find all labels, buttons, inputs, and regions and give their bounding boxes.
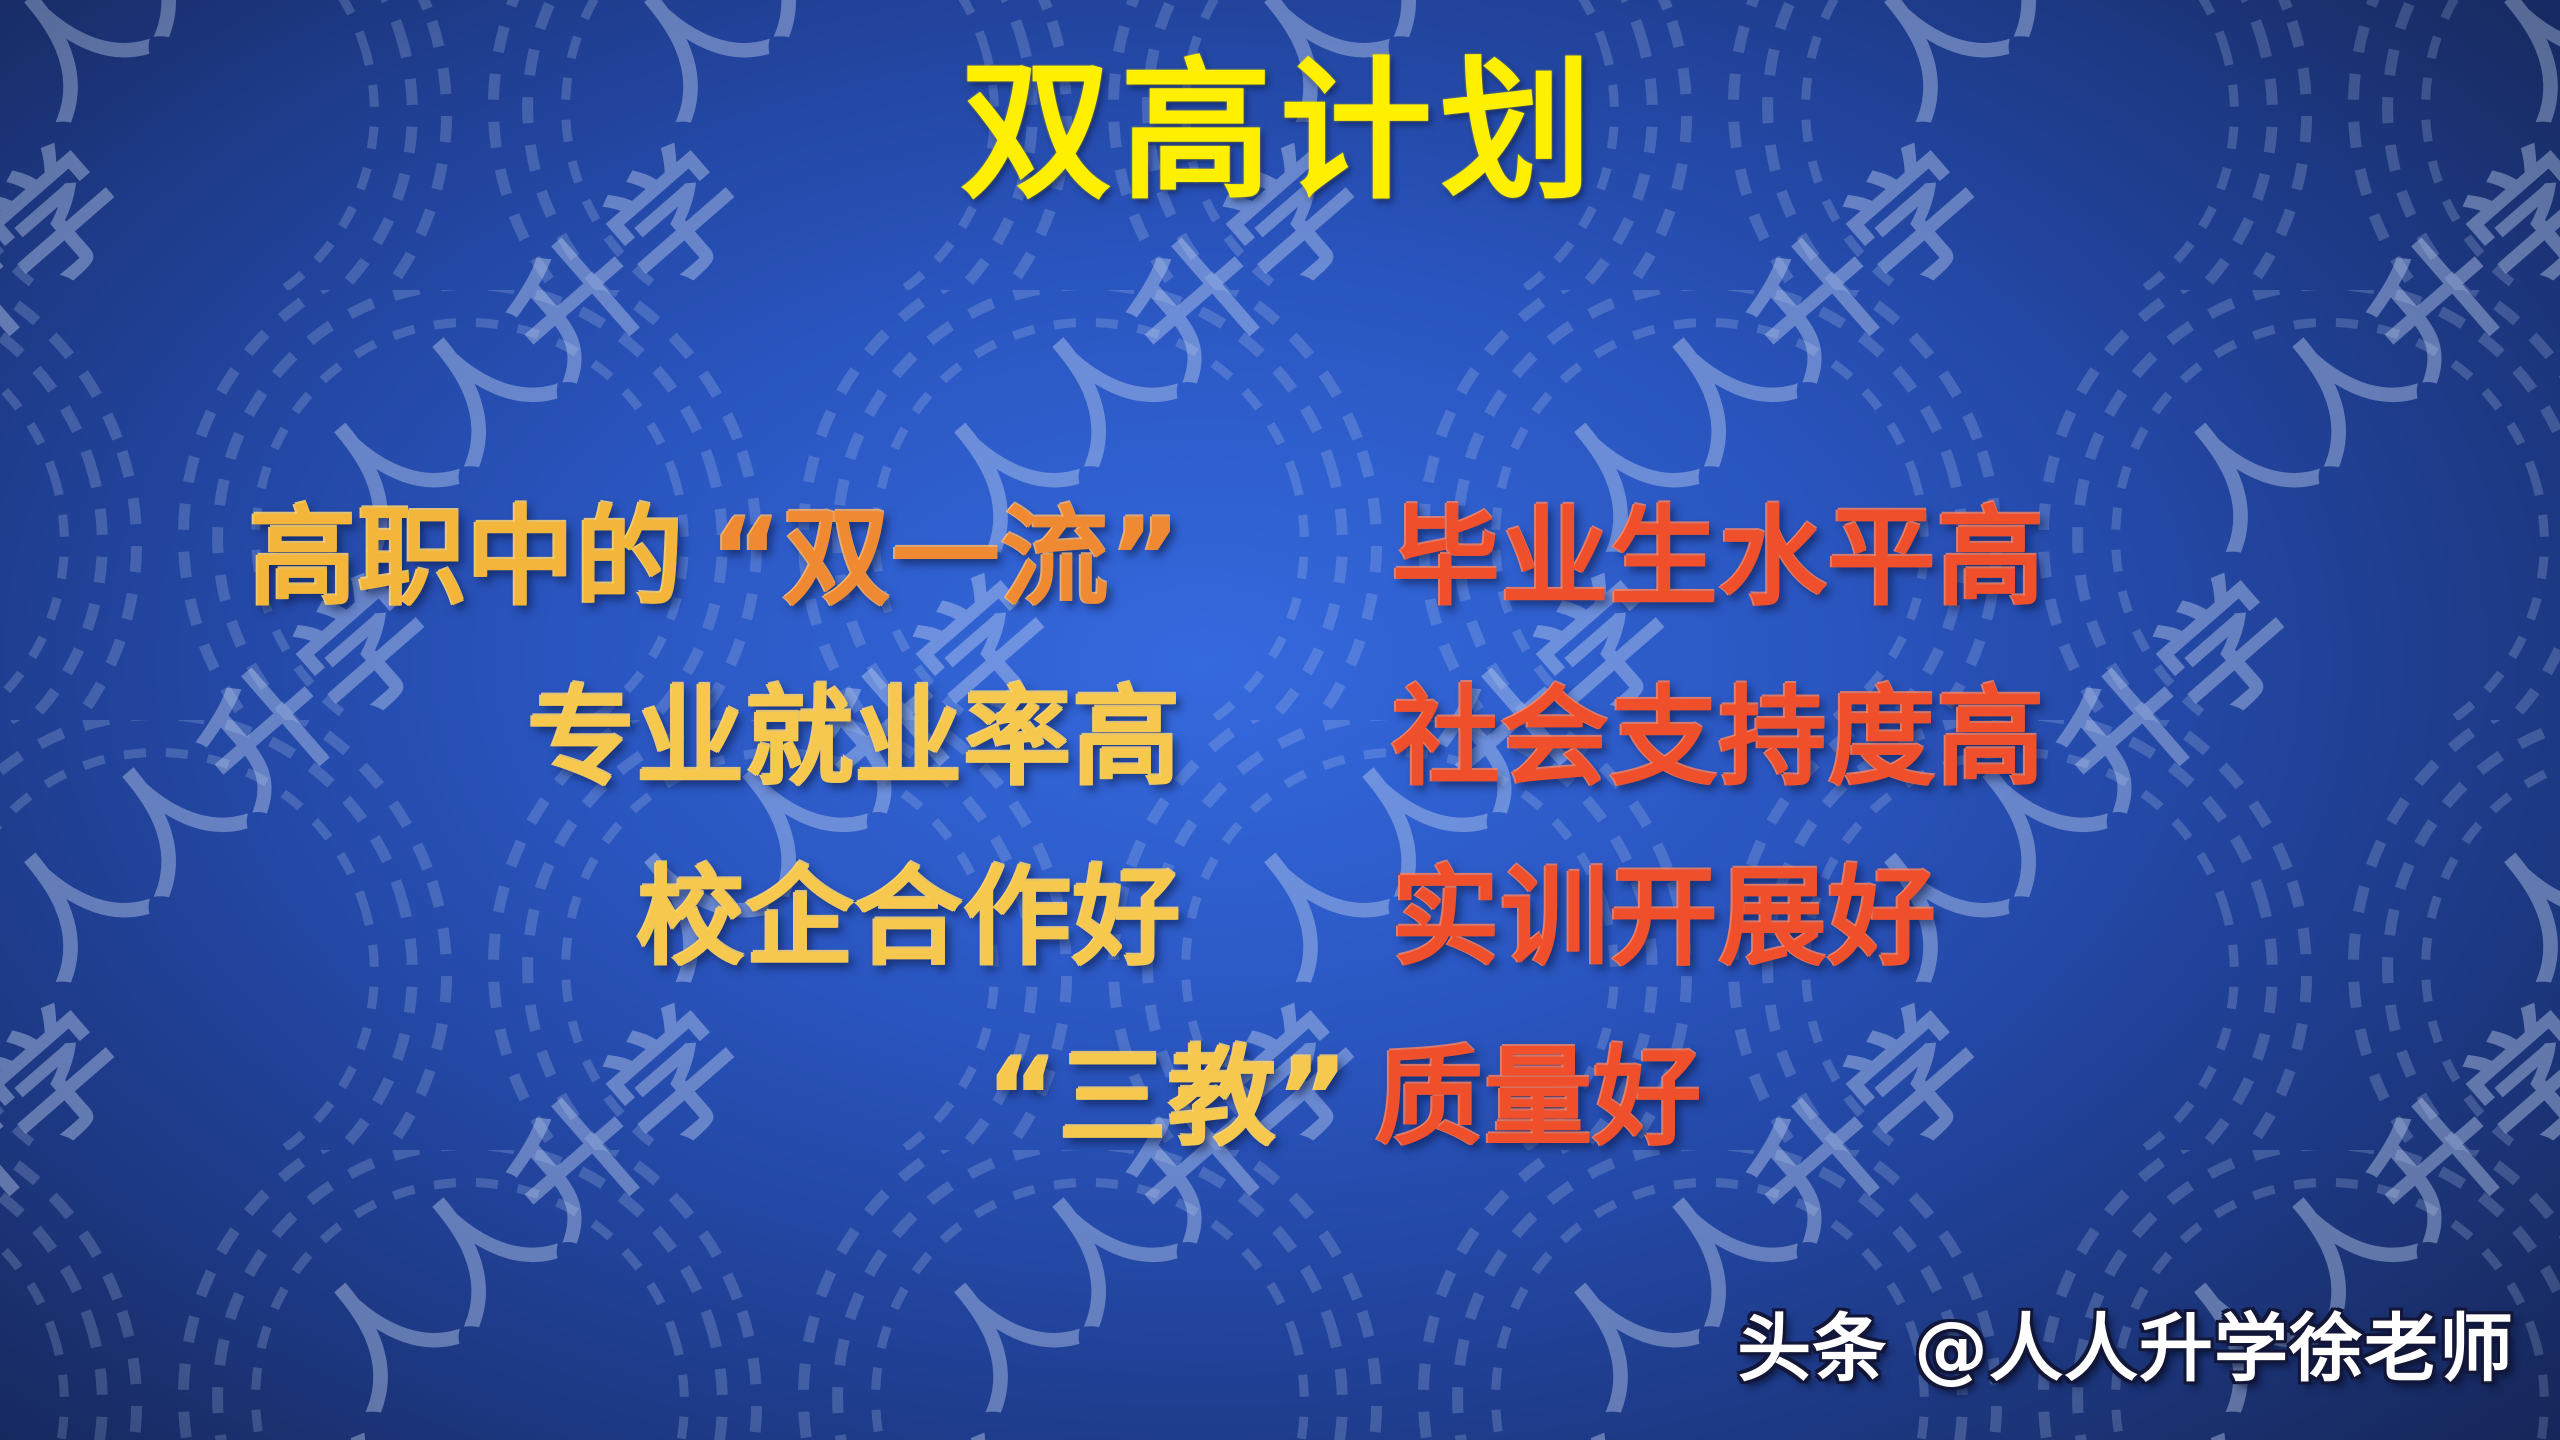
benefit-right-3: 实训开展好 <box>1280 865 2560 973</box>
author-signature: 头条 @人人升学徐老师 <box>1737 1289 2514 1396</box>
slide-title: 双高计划 <box>0 52 2560 212</box>
benefit-left-1-lead: 高职中的 <box>249 496 685 621</box>
benefit-left-3: 校企合作好 <box>0 865 1280 973</box>
benefit-right-3-text: 实训开展好 <box>1392 856 1937 981</box>
benefit-left-1: 高职中的“双一流” <box>0 505 1280 613</box>
benefit-right-1: 毕业生水平高 <box>1280 505 2560 613</box>
presentation-slide: 人人升学 人人升学 <box>0 0 2560 1440</box>
benefit-right-2: 社会支持度高 <box>1280 685 2560 793</box>
benefit-left-3-text: 校企合作好 <box>637 856 1182 981</box>
signature-handle: @人人升学徐老师 <box>1914 1306 2514 1392</box>
benefit-final-text: 质量好 <box>1375 1036 1702 1161</box>
benefit-final-quoted: “三教” <box>988 1036 1350 1161</box>
benefits-final-row: “三教”质量好 <box>0 1045 2560 1225</box>
benefits-row: 高职中的“双一流” 毕业生水平高 <box>0 505 2560 685</box>
benefits-row: 专业就业率高 社会支持度高 <box>0 685 2560 865</box>
benefits-grid: 高职中的“双一流” 毕业生水平高 专业就业率高 社会支持度高 校企合作好 实训开… <box>0 505 2560 1225</box>
benefits-row: 校企合作好 实训开展好 <box>0 865 2560 1045</box>
benefit-final: “三教”质量好 <box>0 1045 2560 1153</box>
benefit-left-2: 专业就业率高 <box>0 685 1280 793</box>
benefit-right-1-text: 毕业生水平高 <box>1392 496 2046 621</box>
signature-platform: 头条 <box>1737 1306 1887 1392</box>
benefit-right-2-text: 社会支持度高 <box>1392 676 2046 801</box>
slide-content: 双高计划 高职中的“双一流” 毕业生水平高 专业就业率高 社会支持度高 校企合作… <box>0 0 2560 1440</box>
benefit-left-1-quoted: “双一流” <box>711 496 1182 621</box>
benefit-left-2-text: 专业就业率高 <box>528 676 1182 801</box>
